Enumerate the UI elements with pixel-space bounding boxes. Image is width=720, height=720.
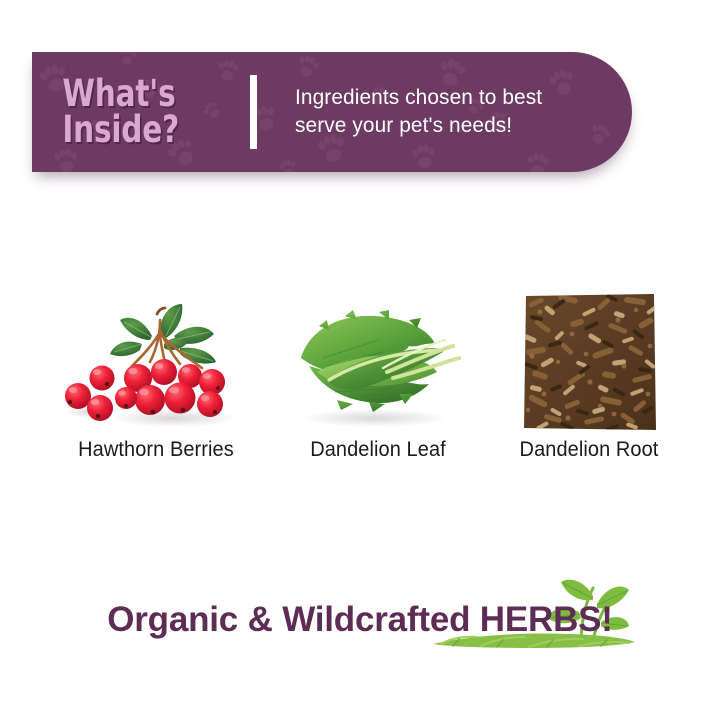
ingredient-label: Hawthorn Berries bbox=[46, 438, 266, 462]
footer-banner: Organic & Wildcrafted HERBS! bbox=[0, 600, 720, 640]
banner-panel: What's Inside? Ingredients chosen to bes… bbox=[32, 52, 632, 172]
ingredients-row: Hawthorn Berries bbox=[40, 282, 700, 462]
ingredient-image-wrap bbox=[484, 286, 694, 436]
banner-title: What's Inside? bbox=[32, 76, 198, 147]
ingredient-label: Dandelion Root bbox=[489, 438, 689, 462]
ingredient-label: Dandelion Leaf bbox=[277, 438, 478, 462]
ingredient-image-wrap bbox=[272, 282, 484, 432]
ingredient-image-wrap bbox=[40, 282, 272, 432]
dandelion-leaf-icon bbox=[283, 300, 473, 432]
dandelion-root-icon bbox=[514, 290, 664, 436]
banner-divider bbox=[250, 75, 257, 149]
green-grass-underline-icon bbox=[429, 626, 639, 652]
hawthorn-berries-icon bbox=[56, 292, 256, 432]
footer-inner: Organic & Wildcrafted HERBS! bbox=[107, 600, 613, 640]
ingredient-item-dandelion-leaf: Dandelion Leaf bbox=[272, 282, 484, 462]
banner-subtitle: Ingredients chosen to best serve your pe… bbox=[295, 84, 542, 139]
banner-content: What's Inside? Ingredients chosen to bes… bbox=[32, 52, 632, 172]
ingredient-item-hawthorn-berries: Hawthorn Berries bbox=[40, 282, 272, 462]
whats-inside-banner: What's Inside? Ingredients chosen to bes… bbox=[32, 52, 632, 172]
ingredient-item-dandelion-root: Dandelion Root bbox=[484, 286, 694, 462]
